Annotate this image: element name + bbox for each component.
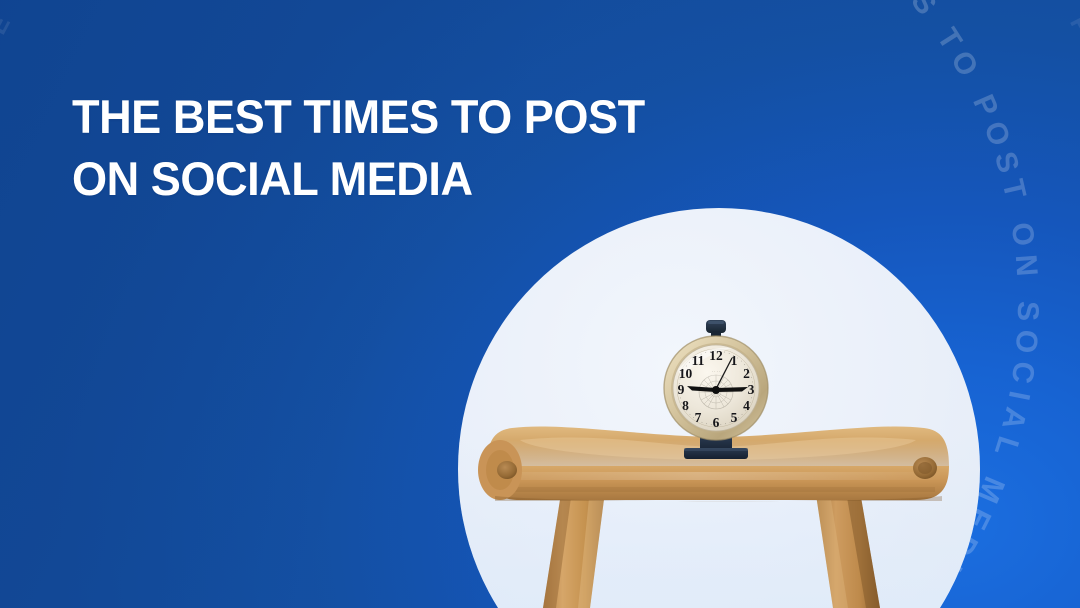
svg-text:1: 1 xyxy=(731,353,738,368)
svg-text:2: 2 xyxy=(743,366,750,381)
svg-text:9: 9 xyxy=(678,382,685,397)
svg-text:3: 3 xyxy=(748,382,755,397)
clock-brand-mark: · · · · xyxy=(712,369,721,374)
page-title-line-2: ON SOCIAL MEDIA xyxy=(72,148,744,210)
social-banner: THE BEST TIMES TO POST ON SOCIAL MEDIA •… xyxy=(0,0,1080,608)
svg-text:12: 12 xyxy=(709,348,723,363)
clock-knob xyxy=(706,320,726,337)
page-title: THE BEST TIMES TO POST ON SOCIAL MEDIA xyxy=(72,86,744,210)
svg-text:8: 8 xyxy=(682,398,689,413)
svg-text:6: 6 xyxy=(713,415,720,430)
svg-text:7: 7 xyxy=(695,410,702,425)
alarm-clock: 12 1 2 3 4 5 6 7 8 9 10 11 · · xyxy=(656,318,776,476)
svg-text:5: 5 xyxy=(731,410,738,425)
svg-text:11: 11 xyxy=(692,353,705,368)
svg-text:4: 4 xyxy=(743,398,750,413)
svg-text:10: 10 xyxy=(679,366,693,381)
page-title-line-1: THE BEST TIMES TO POST xyxy=(72,86,744,148)
